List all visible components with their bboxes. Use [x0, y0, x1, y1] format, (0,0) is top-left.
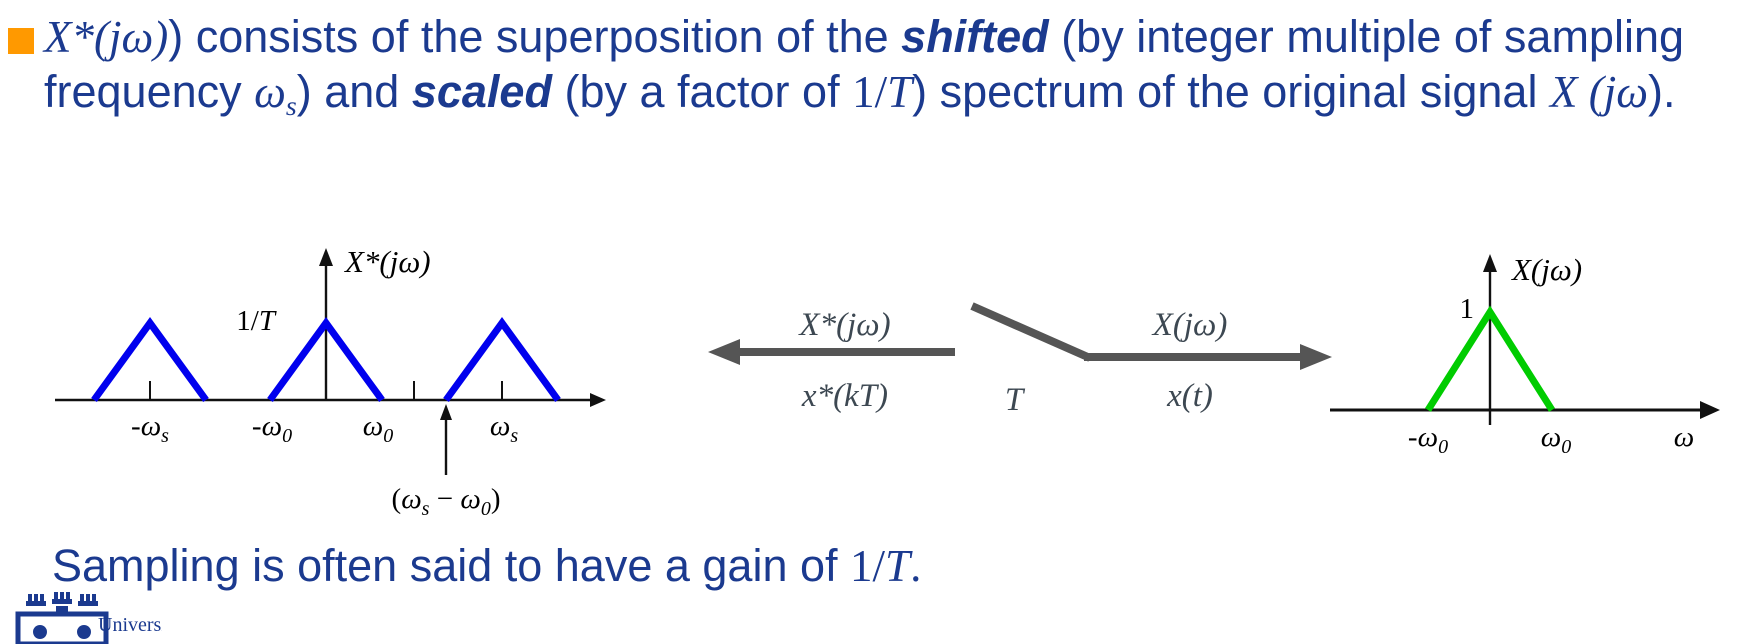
chart-original-spectrum: X(jω) 1 -ω0 ω0 ω [1330, 252, 1720, 458]
r-xtick-minus-w0-main: -ω [1408, 421, 1438, 453]
label-x-of-t: x(t) [1166, 378, 1213, 414]
label-switch-T: T [1005, 382, 1026, 418]
ylabel-T: T [259, 305, 277, 337]
math-x-star-jw: X*(j [44, 12, 121, 62]
xtick-minus-ws-main: -ω [131, 410, 161, 442]
line1-text-b: ) consists of the superposition of the [168, 11, 901, 62]
xtick-plus-ws-sub: s [510, 425, 518, 447]
chart-title-omega: ω [398, 244, 420, 279]
y-axis-arrowhead-right [1483, 254, 1497, 272]
crest-body [18, 614, 106, 644]
chart-title-main: X*(j [343, 244, 398, 279]
y-axis-arrowhead [319, 248, 333, 266]
closing-T: T [885, 541, 910, 591]
ylabel-numerator: 1/ [236, 305, 260, 337]
xtick-label-minus-ws: -ωs [131, 410, 169, 447]
bullet-row: X*(jω)) consists of the superposition of… [8, 10, 1748, 124]
label-X-star-jw: X*(jω) [797, 307, 890, 343]
bullet-text: X*(jω)) consists of the superposition of… [44, 10, 1734, 124]
ann-sub-0: 0 [481, 498, 491, 520]
closing-text: Sampling is often said to have a gain of [52, 540, 850, 591]
crest-turrets [26, 592, 98, 606]
omega-s-subscript: s [286, 91, 297, 122]
ann-open: ( [392, 483, 402, 515]
xtick-label-plus-ws: ωs [490, 410, 518, 447]
y-axis-label-1-over-T: 1/T [236, 305, 277, 337]
right-above-main: X(j [1151, 307, 1193, 343]
x-axis-arrowhead-right [1700, 401, 1720, 419]
ann-close: ) [491, 483, 501, 515]
paren-close: ) [153, 12, 168, 62]
frac-one-over: 1/ [852, 67, 887, 117]
xtick-plus-ws-main: ω [490, 410, 510, 442]
ann-omega-1: ω [401, 483, 421, 515]
r-xtick-minus-w0-sub: 0 [1438, 436, 1448, 458]
right-title-close: ) [1570, 252, 1582, 287]
right-title-main: X(j [1510, 252, 1550, 287]
xtick-minus-w0-sub: 0 [282, 425, 292, 447]
chart-title-X-jw: X(jω) [1510, 252, 1582, 287]
ann-sub-s: s [422, 498, 430, 520]
switch-lever-line [972, 306, 1090, 358]
figure-sampling-spectra: X*(jω) 1/T -ωs -ω0 ω0 ωs (ωs − ω0) [0, 240, 1750, 525]
logo-caption: University of [98, 614, 162, 637]
line2-text-b: ) and [297, 66, 412, 117]
right-above-omega: ω [1193, 307, 1216, 343]
left-above-close: ) [878, 307, 891, 343]
omega-s-glyph: ω [254, 67, 286, 117]
bullet-marker-square [8, 28, 34, 54]
left-above-omega: ω [856, 307, 879, 343]
math-T: T [887, 67, 912, 117]
xtick-plus-w0-main: ω [363, 410, 383, 442]
crest-windows [33, 606, 91, 639]
line2-text-c: (by a factor of [552, 66, 840, 117]
x-axis-arrowhead [590, 393, 606, 407]
closing-period: . [910, 541, 921, 591]
ann-omega-2: ω [460, 483, 480, 515]
closing-statement: Sampling is often said to have a gain of… [52, 540, 921, 592]
annotation-pointer-arrowhead [440, 404, 452, 420]
sampler-block: X*(jω) x*(kT) T X(jω) x(t) [708, 306, 1332, 418]
omega-glyph: ω [121, 12, 153, 62]
xtick-minus-ws-sub: s [161, 425, 169, 447]
right-arrow-head [1300, 344, 1332, 370]
label-X-jw: X(jω) [1151, 307, 1228, 343]
ann-minus: − [429, 483, 460, 515]
chart-title-close: ) [418, 244, 430, 279]
chart-sampled-spectrum: X*(jω) 1/T -ωs -ω0 ω0 ωs (ωs − ω0) [55, 244, 606, 520]
line1-text-c: (by integer [1049, 11, 1274, 62]
xtick-minus-w0-main: -ω [252, 410, 282, 442]
x-axis-label-omega: ω [1674, 421, 1694, 453]
omega-glyph-2: ω [1616, 67, 1648, 117]
y-axis-label-one: 1 [1460, 293, 1475, 325]
emph-scaled: scaled [412, 66, 552, 117]
chart-title-x-star: X*(jω) [343, 244, 431, 279]
xtick-label-right-minus-w0: -ω0 [1408, 421, 1448, 458]
xtick-label-plus-w0: ω0 [363, 410, 393, 447]
line3-text-d: ). [1648, 66, 1676, 117]
xtick-plus-w0-sub: 0 [383, 425, 393, 447]
xtick-label-minus-w0: -ω0 [252, 410, 292, 447]
emph-shifted: shifted [901, 11, 1049, 62]
closing-one-over: 1/ [850, 541, 885, 591]
r-xtick-plus-w0-main: ω [1541, 421, 1561, 453]
university-crest-logo: University of [12, 592, 162, 644]
math-jw-open: (j [1577, 67, 1616, 117]
annotation-ws-minus-w0: (ωs − ω0) [392, 483, 501, 520]
r-xtick-plus-w0-sub: 0 [1561, 436, 1571, 458]
left-arrow-head [708, 339, 740, 365]
left-above-main: X*(j [797, 307, 856, 343]
math-X: X [1550, 67, 1578, 117]
bullet-paragraph: X*(jω)) consists of the superposition of… [8, 10, 1748, 124]
label-x-star-kT: x*(kT) [801, 378, 888, 414]
right-above-close: ) [1214, 307, 1227, 343]
line3-text-b: ) spectrum of the original signal [912, 66, 1550, 117]
xtick-label-right-plus-w0: ω0 [1541, 421, 1571, 458]
right-title-omega: ω [1550, 252, 1572, 287]
